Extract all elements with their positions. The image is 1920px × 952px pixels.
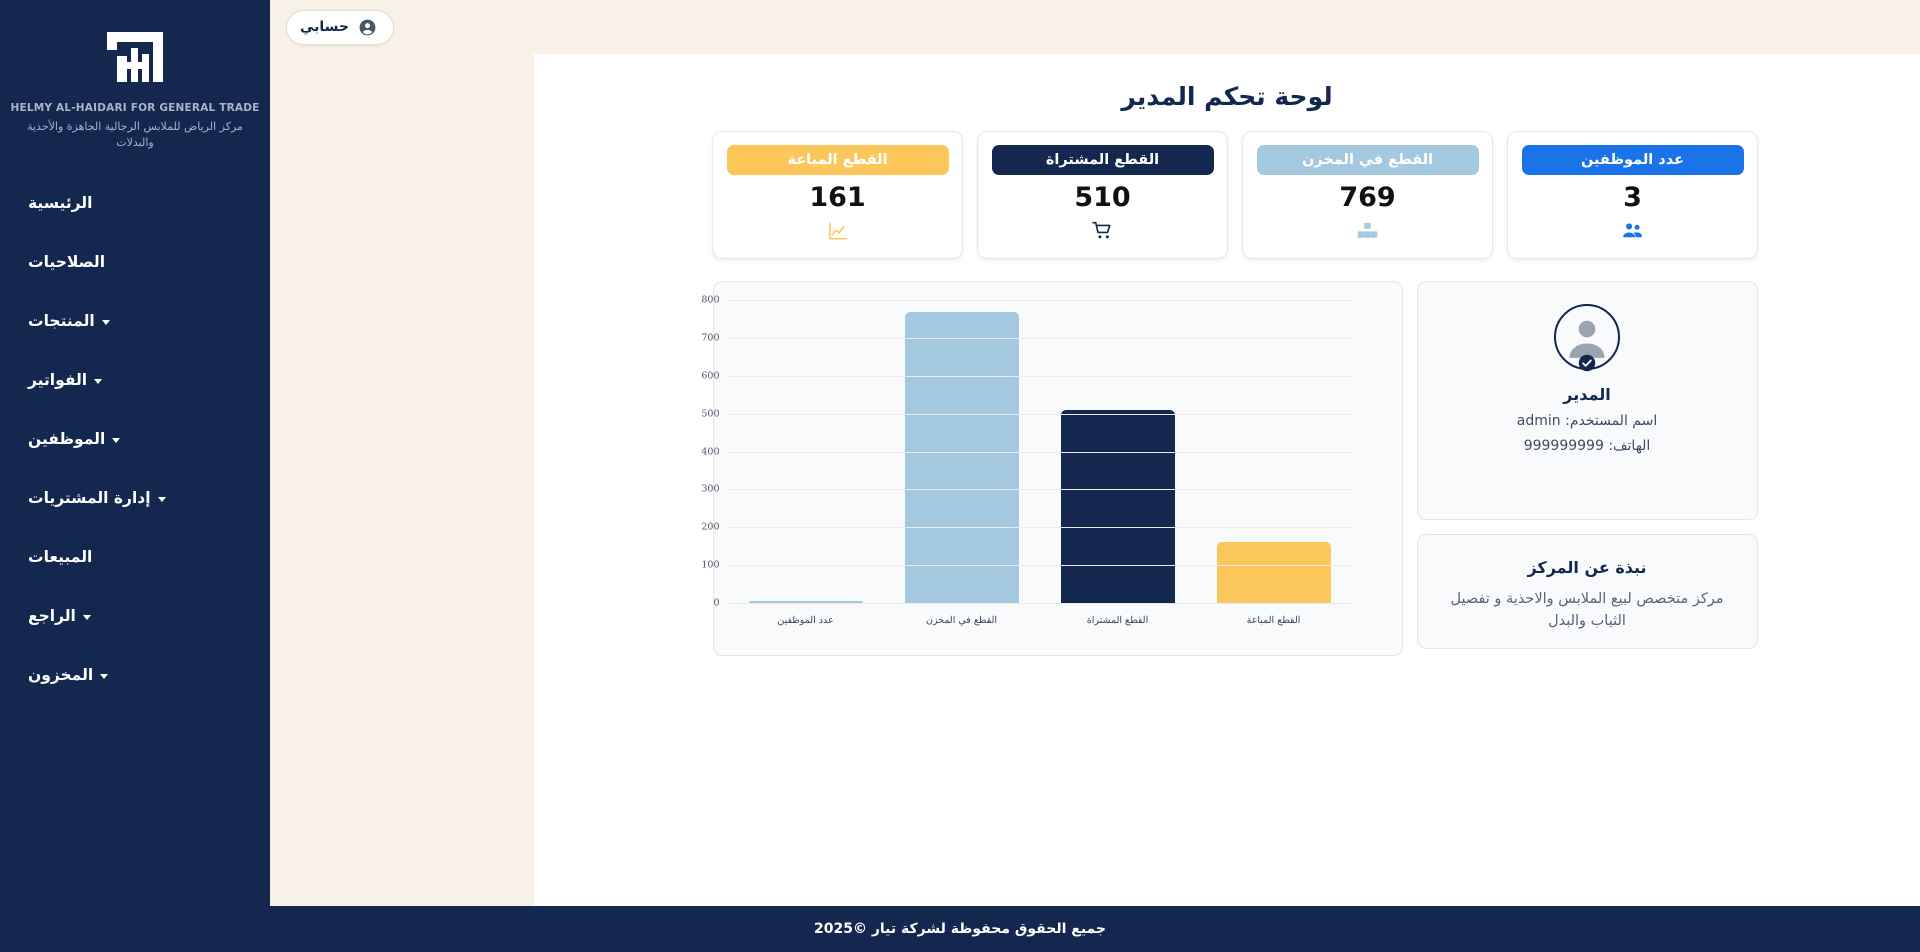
chart-y-tick-label: 600	[701, 370, 719, 381]
chart-bar[interactable]	[1061, 410, 1175, 603]
chart-y-tick-label: 0	[713, 598, 719, 609]
chart-gridline: 600	[728, 376, 1352, 377]
chart-y-tick-label: 800	[701, 295, 719, 306]
footer: جميع الحقوق محفوظة لشركة تيار ©2025	[0, 906, 1920, 952]
sidebar-item-label: الصلاحيات	[28, 253, 105, 271]
sidebar-item-invoices[interactable]: الفواتير	[0, 351, 270, 410]
bar-chart-card: القطع المباعةالقطع المشتراةالقطع في المخ…	[713, 281, 1403, 656]
stat-value-items-purchased: 510	[1074, 184, 1130, 211]
profile-card: المدير اسم المستخدم: admin الهاتف: 99999…	[1417, 281, 1758, 520]
chevron-down-icon	[112, 438, 120, 443]
sidebar-item-products[interactable]: المنتجات	[0, 292, 270, 351]
chart-line-icon	[828, 221, 848, 240]
sidebar-item-purchases-management[interactable]: إدارة المشتريات	[0, 469, 270, 528]
sidebar-item-inventory[interactable]: المخزون	[0, 646, 270, 705]
chart-bar[interactable]	[1217, 542, 1331, 603]
chart-plot-area: القطع المباعةالقطع المشتراةالقطع في المخ…	[728, 300, 1352, 603]
stat-card-items-purchased[interactable]: القطع المشتراة 510	[977, 131, 1228, 259]
chart-y-tick-label: 500	[701, 408, 719, 419]
about-title: نبذة عن المركز	[1527, 558, 1646, 577]
main-stage: حسابي لوحة تحكم المدير عدد الموظفين 3	[270, 0, 1920, 952]
stat-badge-items-purchased[interactable]: القطع المشتراة	[992, 145, 1214, 175]
content-panel: لوحة تحكم المدير عدد الموظفين 3	[534, 54, 1920, 952]
sidebar: HELMY AL-HAIDARI FOR GENERAL TRADE مركز …	[0, 0, 270, 952]
sidebar-item-returns[interactable]: الراجع	[0, 587, 270, 646]
side-column: المدير اسم المستخدم: admin الهاتف: 99999…	[1417, 281, 1758, 649]
sidebar-item-home[interactable]: الرئيسية	[0, 174, 270, 233]
chart-x-tick-label: القطع المشتراة	[1087, 615, 1148, 626]
chart-x-tick-label: القطع المباعة	[1247, 615, 1301, 626]
chart-bar[interactable]	[905, 312, 1019, 603]
chart-gridline: 800	[728, 300, 1352, 301]
topbar: حسابي	[270, 0, 1920, 54]
chart-y-tick-label: 300	[701, 484, 719, 495]
chart-y-tick-label: 100	[701, 560, 719, 571]
sidebar-nav: الرئيسيةالصلاحياتالمنتجاتالفواتيرالموظفي…	[0, 174, 270, 705]
profile-username: اسم المستخدم: admin	[1517, 413, 1657, 429]
brand-name-en: HELMY AL-HAIDARI FOR GENERAL TRADE	[4, 102, 265, 116]
sidebar-item-permissions[interactable]: الصلاحيات	[0, 233, 270, 292]
stat-value-employees-count: 3	[1623, 184, 1642, 211]
about-text: مركز متخصص لبيع الملابس والاحذية و تفصيل…	[1418, 588, 1757, 633]
dashboard-root: حسابي لوحة تحكم المدير عدد الموظفين 3	[0, 0, 1920, 952]
profile-name: المدير	[1563, 385, 1610, 404]
stat-badge-items-in-stock[interactable]: القطع في المخزن	[1257, 145, 1479, 175]
chart-gridline: 500	[728, 414, 1352, 415]
chevron-down-icon	[94, 379, 102, 384]
stat-card-employees-count[interactable]: عدد الموظفين 3	[1507, 131, 1758, 259]
sidebar-item-label: الموظفين	[28, 430, 105, 448]
sidebar-item-label: إدارة المشتريات	[28, 489, 151, 507]
chart-gridline: 200	[728, 527, 1352, 528]
chart-gridline: 100	[728, 565, 1352, 566]
chevron-down-icon	[102, 320, 110, 325]
user-circle-icon	[358, 18, 377, 37]
chart-x-tick-label: القطع في المخزن	[926, 615, 997, 626]
chart-x-tick-label: عدد الموظفين	[777, 615, 833, 626]
shopping-cart-icon	[1092, 221, 1113, 240]
sidebar-item-label: الفواتير	[28, 371, 87, 389]
chart-gridline: 400	[728, 452, 1352, 453]
stat-cards-row: عدد الموظفين 3 القطع في المخزن 769	[534, 131, 1920, 259]
sidebar-item-label: الراجع	[28, 607, 76, 625]
chart-gridline: 300	[728, 489, 1352, 490]
sidebar-item-label: الرئيسية	[28, 194, 92, 212]
stat-badge-employees-count[interactable]: عدد الموظفين	[1522, 145, 1744, 175]
account-label: حسابي	[300, 19, 349, 35]
brand-name-ar: مركز الرياض للملابس الرجالية الجاهزة وال…	[0, 119, 270, 152]
profile-phone: الهاتف: 999999999	[1524, 438, 1651, 454]
stat-badge-items-sold[interactable]: القطع المباعة	[727, 145, 949, 175]
verified-check-icon	[1578, 354, 1596, 372]
stat-card-items-in-stock[interactable]: القطع في المخزن 769	[1242, 131, 1493, 259]
sidebar-item-label: المبيعات	[28, 548, 92, 566]
chevron-down-icon	[100, 674, 108, 679]
avatar[interactable]	[1554, 304, 1620, 370]
lower-section: المدير اسم المستخدم: admin الهاتف: 99999…	[534, 259, 1920, 656]
stat-card-items-sold[interactable]: القطع المباعة 161	[712, 131, 963, 259]
sidebar-item-label: المنتجات	[28, 312, 95, 330]
sidebar-item-employees[interactable]: الموظفين	[0, 410, 270, 469]
account-button[interactable]: حسابي	[286, 10, 394, 45]
chart-y-tick-label: 400	[701, 446, 719, 457]
chart-gridline: 700	[728, 338, 1352, 339]
chart-gridline: 0	[728, 603, 1352, 604]
page-title: لوحة تحكم المدير	[534, 54, 1920, 131]
sidebar-item-label: المخزون	[28, 666, 93, 684]
chevron-down-icon	[158, 497, 166, 502]
stat-value-items-sold: 161	[809, 184, 865, 211]
chart-y-tick-label: 700	[701, 332, 719, 343]
boxes-icon	[1357, 221, 1378, 240]
about-card: نبذة عن المركز مركز متخصص لبيع الملابس و…	[1417, 534, 1758, 649]
stat-value-items-in-stock: 769	[1339, 184, 1395, 211]
chart-y-tick-label: 200	[701, 522, 719, 533]
users-icon	[1622, 221, 1643, 240]
company-monogram-logo	[99, 26, 171, 88]
sidebar-item-sales[interactable]: المبيعات	[0, 528, 270, 587]
chevron-down-icon	[83, 615, 91, 620]
